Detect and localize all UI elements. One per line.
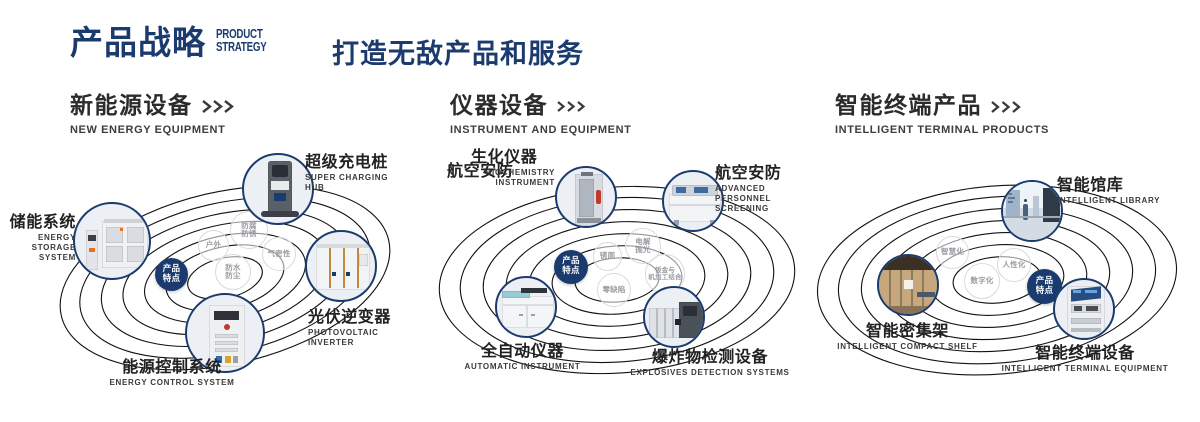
photovoltaic-inverter-image <box>307 232 375 300</box>
advanced-personnel-screening-image <box>664 172 722 230</box>
section-title-en: INSTRUMENT AND EQUIPMENT <box>450 124 631 136</box>
core-bubble-product-features: 产品 特点 <box>554 250 588 284</box>
node-automatic-instrument[interactable] <box>495 276 557 338</box>
chevron-triple-right-icon <box>557 101 587 112</box>
page-title-en-line1: PRODUCT <box>216 28 266 41</box>
feature-bubble: 气密性 <box>262 237 296 271</box>
label-photovoltaic-inverter: 光伏逆变器 PHOTOVOLTAIC INVERTER <box>308 308 400 348</box>
intelligent-library-image <box>1003 182 1061 240</box>
node-intelligent-library[interactable] <box>1001 180 1063 242</box>
cluster-intelligent-terminal: 智慧化 数字化 人性化 产品 特点 智能馆库 I <box>805 150 1195 402</box>
label-explosives-detection-systems: 爆炸物检测设备 EXPLOSIVES DETECTION SYSTEMS <box>595 348 825 378</box>
section-title-cn: 新能源设备 <box>70 94 193 119</box>
label-intelligent-library: 智能馆库 INTELLIGENT LIBRARY <box>1057 176 1160 206</box>
node-photovoltaic-inverter[interactable] <box>305 230 377 302</box>
feature-bubble: 零缺陷 <box>597 273 631 307</box>
feature-bubble: 数字化 <box>964 263 1000 299</box>
feature-bubble: 人性化 <box>997 248 1031 282</box>
explosives-detection-systems-image <box>645 288 703 346</box>
label-advanced-personnel-screening: 航空安防 ADVANCED PERSONNEL SCREENING <box>715 164 810 214</box>
core-bubble-product-features: 产品 特点 <box>155 258 188 291</box>
node-intelligent-compact-shelf[interactable] <box>877 254 939 316</box>
label-energy-control-system: 能源控制系统 ENERGY CONTROL SYSTEM <box>72 358 272 388</box>
section-title-intelligent-terminal: 智能终端产品 INTELLIGENT TERMINAL PRODUCTS <box>835 94 1049 136</box>
page-title-cn: 产品战略 <box>70 26 206 59</box>
node-biochemistry-instrument[interactable] <box>555 166 617 228</box>
section-title-cn: 智能终端产品 <box>835 94 982 119</box>
node-super-charging-hub[interactable] <box>242 153 314 225</box>
feature-bubble: 智慧化 <box>936 236 969 269</box>
super-charging-hub-image <box>244 155 312 223</box>
node-intelligent-terminal-equipment[interactable] <box>1053 278 1115 340</box>
section-title-new-energy: 新能源设备 NEW ENERGY EQUIPMENT <box>70 94 236 136</box>
automatic-instrument-image <box>497 278 555 336</box>
cluster-instrument: 产品 特点 镜面 电解抛光 零缺陷 钣金与机加工结合 航空安防 生化仪器 BIO… <box>425 150 810 402</box>
product-strategy-infographic: 产品战略 PRODUCT STRATEGY 打造无敌产品和服务 新能源设备 NE… <box>0 0 1200 422</box>
cluster-new-energy: 产品 特点 户外 防腐防锈 防水防尘 气密性 储能系统 ENERGY S <box>50 150 400 402</box>
label-energy-storage-system: 储能系统 ENERGY STORAGE SYSTEM <box>0 213 76 263</box>
node-explosives-detection-systems[interactable] <box>643 286 705 348</box>
feature-bubble: 镜面 <box>593 242 622 271</box>
chevron-triple-right-icon <box>991 101 1023 113</box>
section-title-en: NEW ENERGY EQUIPMENT <box>70 124 236 136</box>
page-title-en-line2: STRATEGY <box>216 41 266 54</box>
page-subtitle: 打造无敌产品和服务 <box>332 32 584 71</box>
label-biochemistry-instrument: 生化仪器 BIOCHEMISTRY INSTRUMENT <box>471 148 555 188</box>
section-title-cn: 仪器设备 <box>450 94 548 119</box>
label-super-charging-hub: 超级充电桩 SUPER CHARGING HUB <box>305 153 400 193</box>
energy-storage-system-image <box>75 204 149 278</box>
chevron-triple-right-icon <box>202 100 236 113</box>
node-energy-storage-system[interactable] <box>73 202 151 280</box>
feature-bubble: 防水防尘 <box>215 254 251 290</box>
label-intelligent-terminal-equipment: 智能终端设备 INTELLIGENT TERMINAL EQUIPMENT <box>955 344 1200 374</box>
intelligent-compact-shelf-image <box>879 256 937 314</box>
page-header: 产品战略 PRODUCT STRATEGY <box>70 26 281 59</box>
page-title-en: PRODUCT STRATEGY <box>216 28 266 54</box>
section-title-en: INTELLIGENT TERMINAL PRODUCTS <box>835 124 1049 136</box>
section-title-instrument: 仪器设备 INSTRUMENT AND EQUIPMENT <box>450 94 631 136</box>
biochemistry-instrument-image <box>557 168 615 226</box>
intelligent-terminal-equipment-image <box>1055 280 1113 338</box>
